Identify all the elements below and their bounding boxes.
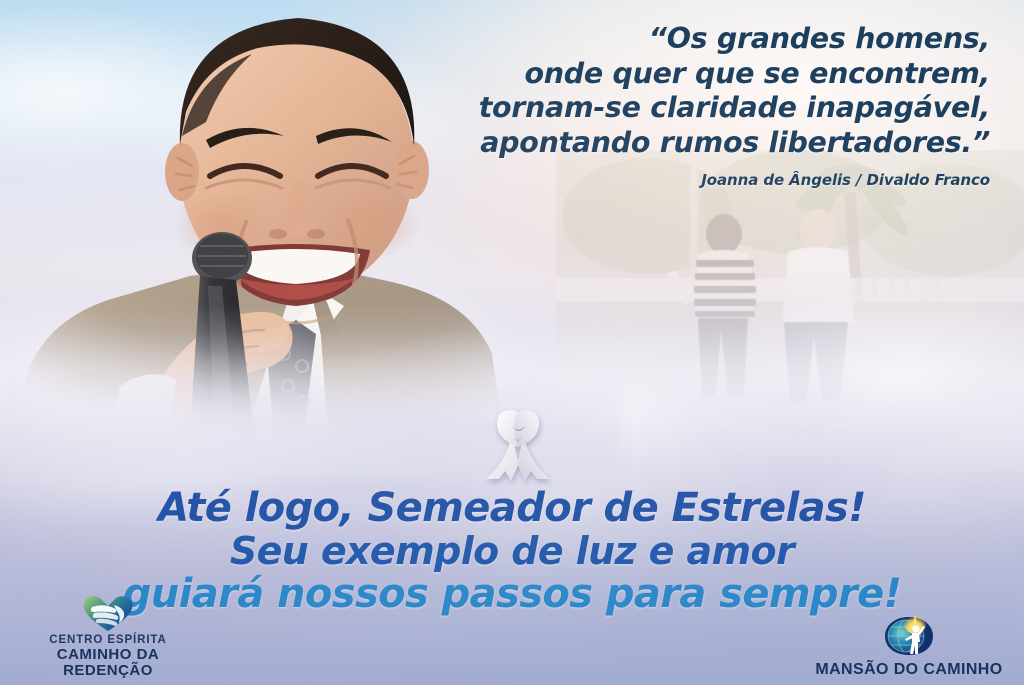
- quote-block: “Os grandes homens, onde quer que se enc…: [350, 22, 990, 189]
- heart-hands-icon: [81, 594, 135, 632]
- logo-left-line-1: CENTRO ESPÍRITA: [10, 634, 206, 646]
- logo-left-text: CENTRO ESPÍRITA CAMINHO DA REDENÇÃO: [10, 634, 206, 679]
- white-ribbon-icon: [481, 407, 555, 483]
- logo-left-line-2: CAMINHO DA REDENÇÃO: [10, 647, 206, 679]
- logo-mansao-do-caminho: MANSÃO DO CAMINHO: [804, 613, 1014, 679]
- headline-line-2: Seu exemplo de luz e amor: [0, 530, 1024, 572]
- logo-centro-espirita-caminho-da-redencao: CENTRO ESPÍRITA CAMINHO DA REDENÇÃO: [10, 594, 206, 679]
- logo-right-line-1: MANSÃO DO CAMINHO: [815, 661, 1002, 679]
- quote-line-4: apontando rumos libertadores.”: [350, 126, 990, 161]
- quote-line-3: tornam-se claridade inapagável,: [350, 91, 990, 126]
- quote-attribution: Joanna de Ângelis / Divaldo Franco: [350, 171, 990, 189]
- headline-line-1: Até logo, Semeador de Estrelas!: [0, 487, 1024, 530]
- memorial-tribute-card: “Os grandes homens, onde quer que se enc…: [0, 0, 1024, 685]
- quote-line-1: “Os grandes homens,: [350, 22, 990, 57]
- globe-figure-icon: [884, 613, 934, 657]
- quote-line-2: onde quer que se encontrem,: [350, 57, 990, 92]
